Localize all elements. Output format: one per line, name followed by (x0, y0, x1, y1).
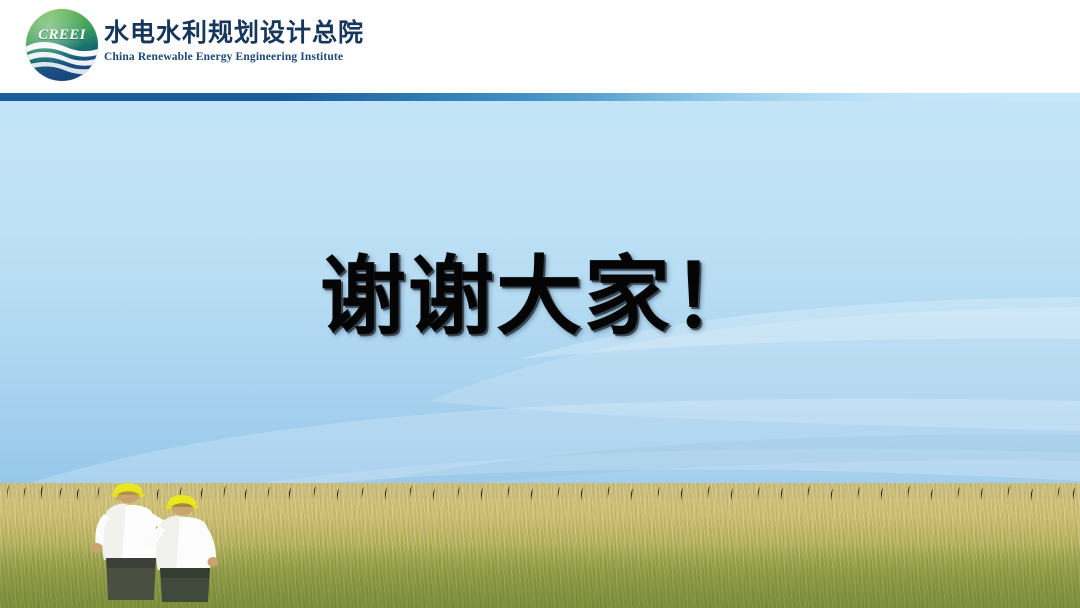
institute-title-cn: 水电水利规划设计总院 (104, 18, 364, 48)
header-divider-bar-fade (0, 93, 1080, 101)
engineers-figure-group (70, 448, 250, 608)
worker-right (146, 495, 219, 602)
institute-title-en: China Renewable Energy Engineering Insti… (104, 50, 364, 64)
creei-logo: CREEI (26, 9, 98, 81)
water-wave-icon (26, 9, 98, 81)
institute-title-block: 水电水利规划设计总院 China Renewable Energy Engine… (104, 18, 364, 64)
presentation-slide: CREEI 水电水利规划设计总院 China Renewable Energy … (0, 0, 1080, 608)
slide-header: CREEI 水电水利规划设计总院 China Renewable Energy … (0, 0, 1080, 93)
slide-body: 谢谢大家！ 谢谢大家！ (0, 101, 1080, 608)
